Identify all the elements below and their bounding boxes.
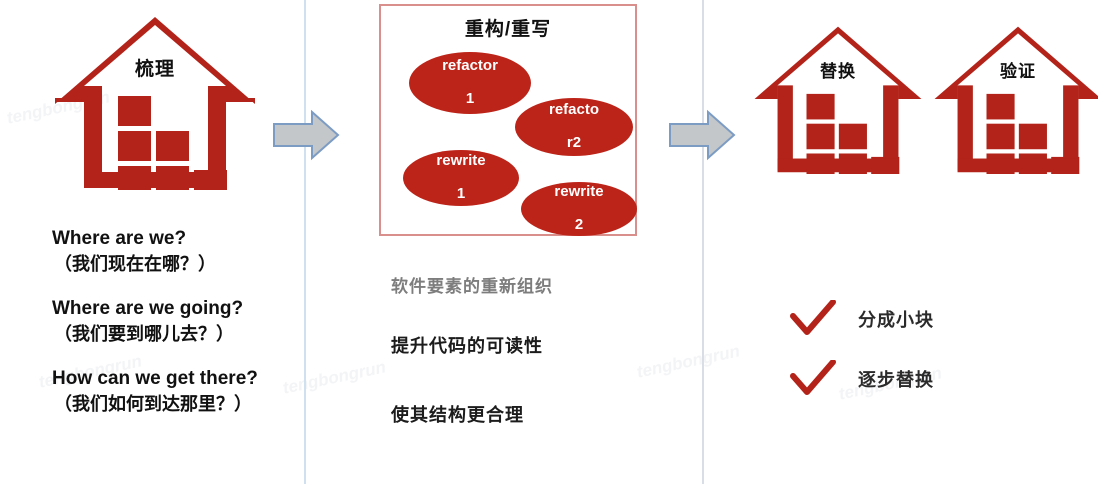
refactor-rewrite-box: 重构/重写 refactor 1 refacto r2 rewrite 1 re… <box>379 4 637 236</box>
arrow-right-icon-2 <box>668 109 736 161</box>
question-zh: （我们如何到达那里？） <box>52 390 258 416</box>
check-label: 逐步替换 <box>858 366 934 392</box>
arrow-right-icon-1 <box>272 109 340 161</box>
ellipse-line1: refacto <box>515 102 633 119</box>
house-icon-tihuan: 替换 <box>752 24 924 174</box>
question-en: Where are we going? <box>52 298 258 320</box>
house-icon-yanzheng: 验证 <box>932 24 1098 174</box>
ellipse-line2: r2 <box>515 135 633 152</box>
stage2-note-3: 使其结构更合理 <box>391 401 524 427</box>
question-zh: （我们现在在哪？） <box>52 250 258 276</box>
watermark: tengbongrun <box>281 357 388 398</box>
question-en: How can we get there? <box>52 368 258 390</box>
stage1-questions: Where are we? （我们现在在哪？） Where are we goi… <box>52 228 258 438</box>
question-en: Where are we? <box>52 228 258 250</box>
question-item: Where are we? （我们现在在哪？） <box>52 228 258 276</box>
stage2-note-1: 软件要素的重新组织 <box>391 272 553 297</box>
column-divider-right <box>702 0 704 484</box>
diagram-canvas: tengbongrun tengbongrun tengbongrun teng… <box>0 0 1098 484</box>
ellipse-line1: rewrite <box>403 153 519 170</box>
question-item: Where are we going? （我们要到哪儿去？） <box>52 298 258 346</box>
ellipse-line2: 1 <box>403 186 519 203</box>
check-icon <box>790 300 836 338</box>
ellipse-rewrite-1: rewrite 1 <box>403 150 519 206</box>
box-title: 重构/重写 <box>381 14 635 41</box>
check-item-2: 逐步替换 <box>790 360 934 398</box>
ellipse-line2: 1 <box>409 91 531 108</box>
watermark: tengbongrun <box>635 341 742 382</box>
ellipse-line1: refactor <box>409 58 531 75</box>
ellipse-line2: 2 <box>521 217 637 234</box>
ellipse-rewrite-2: rewrite 2 <box>521 182 637 236</box>
house-icon-shuli: 梳理 <box>54 14 256 190</box>
ellipse-refactor-1: refactor 1 <box>409 52 531 114</box>
check-label: 分成小块 <box>858 306 934 332</box>
check-icon <box>790 360 836 398</box>
ellipse-refactor-2: refacto r2 <box>515 98 633 156</box>
stage2-note-2: 提升代码的可读性 <box>391 332 543 358</box>
question-zh: （我们要到哪儿去？） <box>52 320 258 346</box>
ellipse-line1: rewrite <box>521 184 637 201</box>
check-item-1: 分成小块 <box>790 300 934 338</box>
column-divider-left <box>304 0 306 484</box>
question-item: How can we get there? （我们如何到达那里？） <box>52 368 258 416</box>
